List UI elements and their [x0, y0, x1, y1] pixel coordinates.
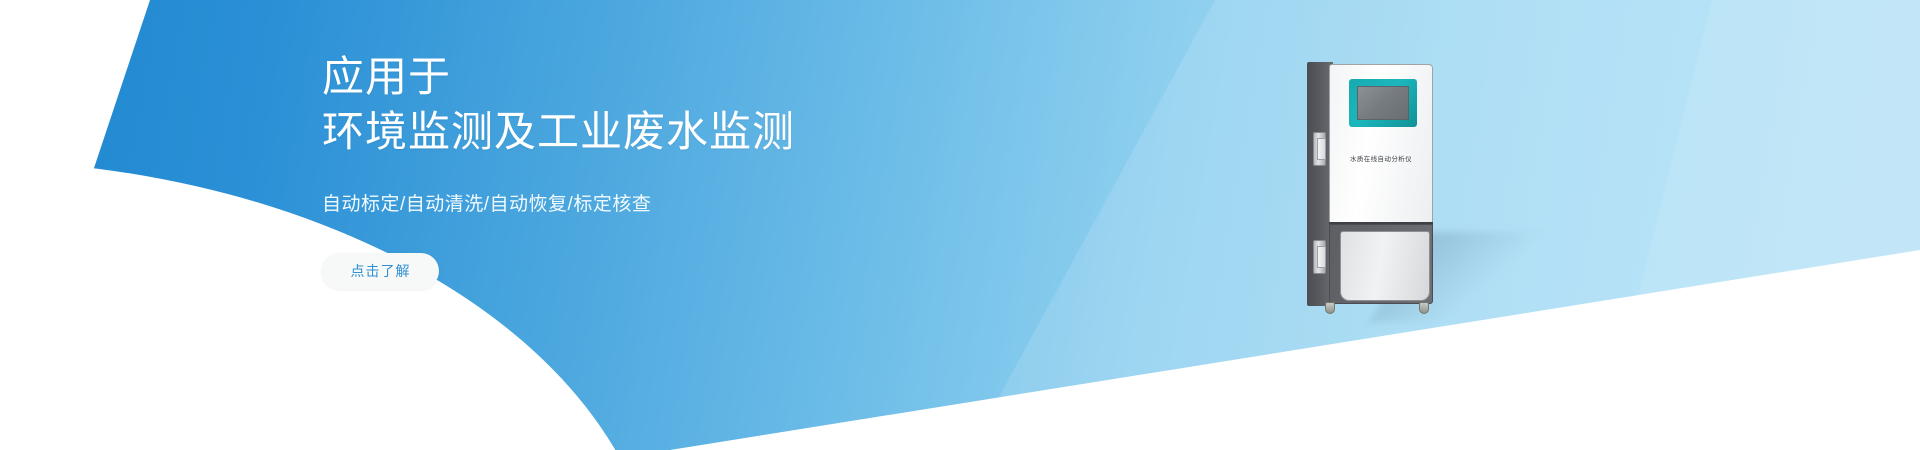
headline-line-2: 环境监测及工业废水监测 — [322, 105, 795, 160]
product-caster-right — [1419, 302, 1429, 314]
product-display-bezel — [1349, 79, 1417, 127]
product-lower-cabinet — [1329, 224, 1433, 304]
product-handle-upper — [1313, 132, 1326, 166]
product-caster-left — [1325, 302, 1335, 314]
promo-banner: 应用于 环境监测及工业废水监测 自动标定/自动清洗/自动恢复/标定核查 点击了解… — [0, 0, 1920, 450]
product-upper-cabinet: 水质在线自动分析仪 — [1329, 64, 1433, 224]
product-label-text: 水质在线自动分析仪 — [1330, 153, 1432, 163]
banner-headline: 应用于 环境监测及工业废水监测 — [322, 50, 795, 159]
banner-copy-block: 应用于 环境监测及工业废水监测 自动标定/自动清洗/自动恢复/标定核查 点击了解 — [322, 50, 795, 289]
product-image-water-quality-analyzer: 水质在线自动分析仪 — [1307, 62, 1447, 314]
product-lower-door — [1340, 231, 1430, 301]
product-handle-lower — [1313, 240, 1326, 274]
banner-subtitle: 自动标定/自动清洗/自动恢复/标定核查 — [322, 189, 795, 216]
headline-line-1: 应用于 — [322, 50, 795, 105]
product-display-screen — [1357, 86, 1409, 120]
learn-more-button[interactable]: 点击了解 — [322, 253, 439, 289]
